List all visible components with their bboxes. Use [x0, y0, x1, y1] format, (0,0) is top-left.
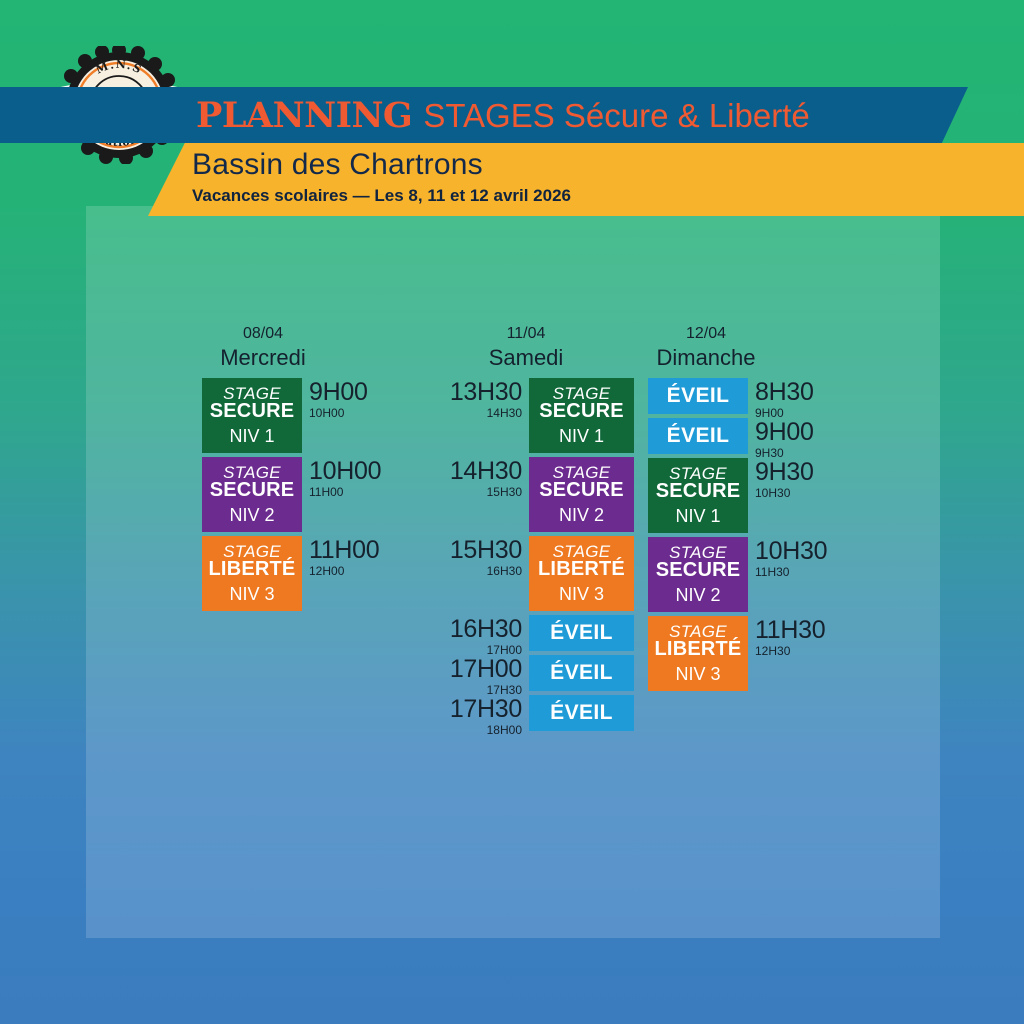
- session-program-label: SECURE: [656, 560, 741, 581]
- session-program-label: ÉVEIL: [667, 425, 730, 447]
- session-block-eveil[interactable]: ÉVEIL: [648, 418, 748, 454]
- session-end-time: 10H30: [755, 487, 790, 499]
- schedule-grid: 08/04MercrediSTAGESECURENIV 19H0010H00ST…: [86, 206, 940, 938]
- session-program-label: SECURE: [656, 481, 741, 502]
- session-row: ÉVEIL8H309H00: [648, 378, 838, 414]
- session-start-time: 10H30: [755, 539, 827, 564]
- session-end-time: 12H30: [755, 645, 790, 657]
- banner-title: PLANNING STAGES Sécure & Liberté: [196, 95, 810, 136]
- title-banner: PLANNING STAGES Sécure & Liberté: [0, 87, 968, 143]
- session-row: STAGELIBERTÉNIV 311H3012H30: [648, 616, 838, 691]
- session-time: 9H3010H30: [748, 458, 838, 533]
- session-level-label: NIV 1: [675, 507, 720, 526]
- session-program-label: LIBERTÉ: [655, 639, 742, 660]
- session-level-label: NIV 2: [675, 586, 720, 605]
- session-program-label: ÉVEIL: [667, 385, 730, 407]
- session-row: ÉVEIL9H009H30: [648, 418, 838, 454]
- session-time: 10H3011H30: [748, 537, 838, 612]
- session-start-time: 9H30: [755, 460, 814, 485]
- title-planning: PLANNING: [196, 95, 412, 136]
- pool-name: Bassin des Chartrons: [192, 147, 1024, 184]
- session-start-time: 11H30: [755, 618, 825, 643]
- session-time: 11H3012H30: [748, 616, 838, 691]
- session-row: STAGESECURENIV 210H3011H30: [648, 537, 838, 612]
- session-block-stage[interactable]: STAGESECURENIV 1: [648, 458, 748, 533]
- session-block-stage[interactable]: STAGELIBERTÉNIV 3: [648, 616, 748, 691]
- column-day: Dimanche: [616, 344, 796, 372]
- session-block-stage[interactable]: STAGESECURENIV 2: [648, 537, 748, 612]
- session-time: 8H309H00: [748, 378, 838, 414]
- period-label: Vacances scolaires — Les 8, 11 et 12 avr…: [192, 185, 1024, 206]
- schedule-column-dimanche: 12/04DimancheÉVEIL8H309H00ÉVEIL9H009H30S…: [86, 206, 940, 938]
- session-row: STAGESECURENIV 19H3010H30: [648, 458, 838, 533]
- session-start-time: 8H30: [755, 380, 814, 405]
- session-start-time: 9H00: [755, 420, 814, 445]
- session-level-label: NIV 3: [675, 665, 720, 684]
- title-subject: STAGES Sécure & Liberté: [423, 97, 809, 135]
- column-header: 12/04Dimanche: [616, 324, 796, 372]
- session-list: ÉVEIL8H309H00ÉVEIL9H009H30STAGESECURENIV…: [648, 378, 838, 695]
- session-block-eveil[interactable]: ÉVEIL: [648, 378, 748, 414]
- session-end-time: 11H30: [755, 566, 789, 578]
- session-time: 9H009H30: [748, 418, 838, 454]
- column-date: 12/04: [616, 324, 796, 344]
